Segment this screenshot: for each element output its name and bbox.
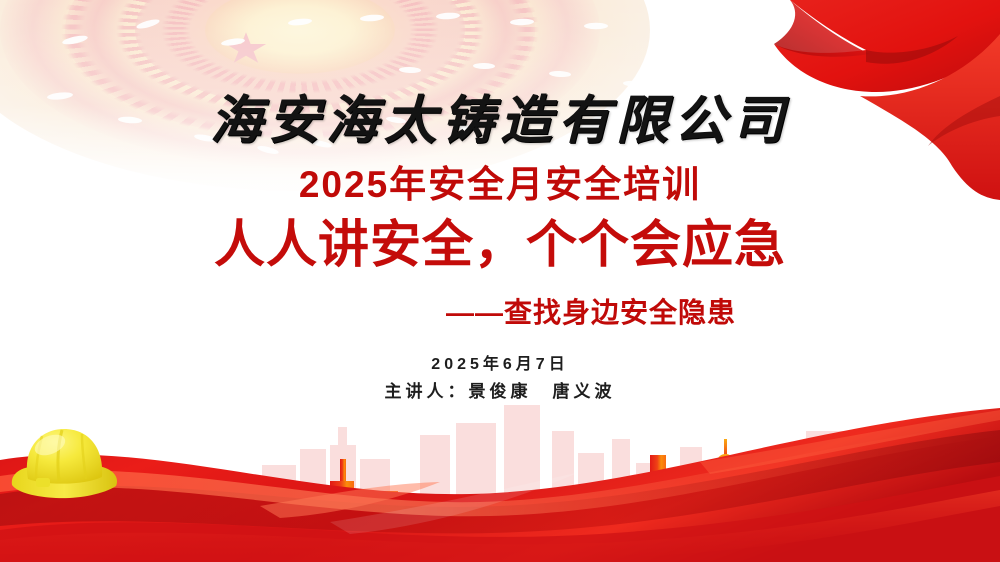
- slide-text-layer: 海安海太铸造有限公司 2025年安全月安全培训 人人讲安全，个个会应急 ——查找…: [0, 0, 1000, 562]
- speakers: 主讲人：景俊康 唐义波: [0, 378, 1000, 406]
- slide-meta: 2025年6月7日 主讲人：景俊康 唐义波: [0, 352, 1000, 406]
- title-slide: 海安海太铸造有限公司 2025年安全月安全培训 人人讲安全，个个会应急 ——查找…: [0, 0, 1000, 562]
- main-slogan: 人人讲安全，个个会应急: [0, 203, 1000, 277]
- training-subtitle: 2025年安全月安全培训: [0, 154, 1000, 208]
- training-date: 2025年6月7日: [0, 352, 1000, 378]
- company-name: 海安海太铸造有限公司: [0, 78, 1000, 153]
- tagline: ——查找身边安全隐患: [0, 291, 1000, 331]
